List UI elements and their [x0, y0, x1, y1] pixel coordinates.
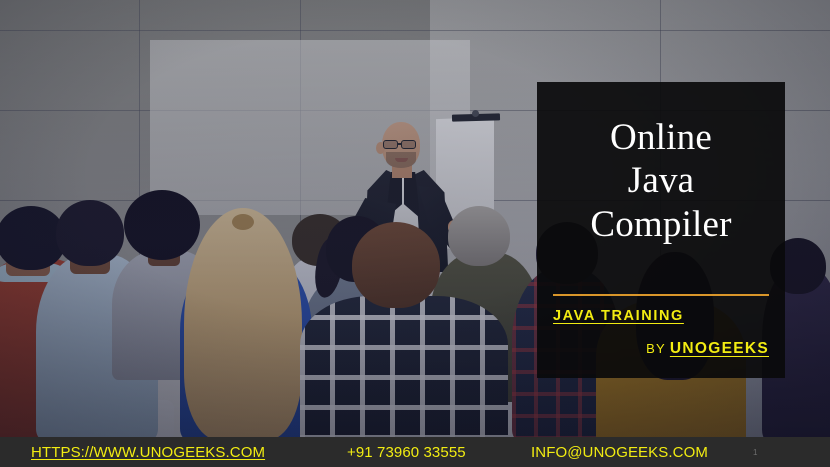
title-line-1: Online: [553, 116, 769, 159]
title-panel: Online Java Compiler JAVA TRAINING BY UN…: [537, 82, 785, 378]
audience-head: [56, 200, 124, 266]
audience-torso: [300, 296, 508, 437]
page-title: Online Java Compiler: [553, 116, 769, 246]
presenter-mouth: [395, 158, 408, 162]
website-link[interactable]: HTTPS://WWW.UNOGEEKS.COM: [31, 444, 265, 461]
title-line-2: Java: [553, 159, 769, 202]
presenter-glasses-right: [401, 140, 416, 149]
presenter-glasses-left: [383, 140, 398, 149]
audience-head: [352, 222, 440, 308]
course-kicker[interactable]: JAVA TRAINING: [553, 308, 769, 324]
audience-hair: [184, 208, 302, 437]
audience-head: [124, 190, 200, 260]
accent-divider: [553, 294, 769, 296]
wall-seam: [0, 30, 830, 31]
title-line-3: Compiler: [553, 203, 769, 246]
audience-head: [448, 206, 510, 266]
slide-number: 1: [753, 448, 757, 457]
byline-brand[interactable]: UNOGEEKS: [670, 340, 769, 357]
audience-hair-part: [232, 214, 254, 230]
presentation-slide: Online Java Compiler JAVA TRAINING BY UN…: [0, 0, 830, 467]
flipchart-knob: [472, 110, 479, 117]
email-address[interactable]: INFO@UNOGEEKS.COM: [531, 444, 708, 461]
presenter-glasses-bridge: [398, 143, 402, 145]
panel-footer: JAVA TRAINING BY UNOGEEKS: [553, 294, 769, 364]
byline-prefix: BY: [646, 341, 666, 356]
byline: BY UNOGEEKS: [553, 340, 769, 358]
contact-footer: HTTPS://WWW.UNOGEEKS.COM +91 73960 33555…: [0, 437, 830, 467]
phone-number: +91 73960 33555: [347, 444, 466, 461]
